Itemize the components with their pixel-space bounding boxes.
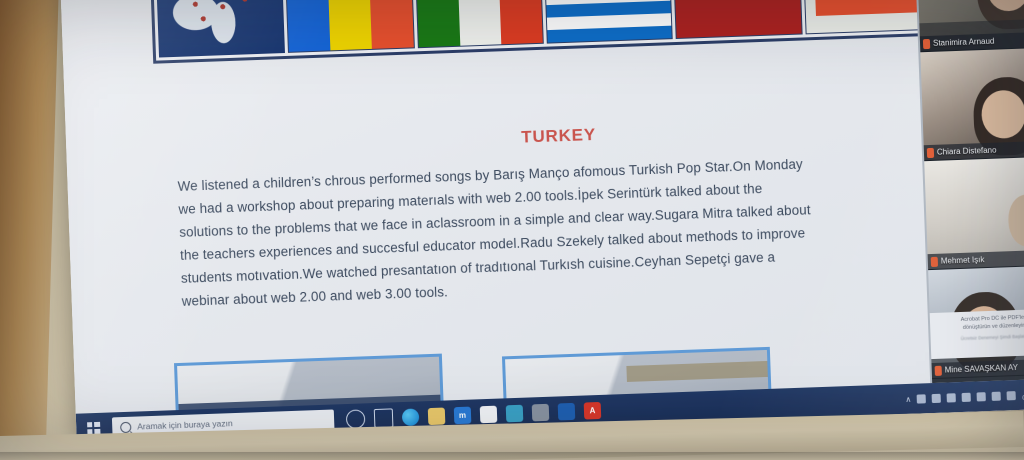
search-placeholder: Aramak için buraya yazın [137,418,233,431]
microphone-icon [923,38,930,48]
ad-subtext: Ücretsiz Denemeyi Şimdi Başlatın [937,332,1024,341]
advertisement-banner[interactable]: Acrobat Pro DC ile PDF'leri dönüştürün v… [930,309,1024,360]
bulgaria-flag [672,0,802,39]
screen: TURKEY We listened a children’s chrous p… [60,0,1024,444]
tray-icon-network[interactable] [917,394,926,403]
map-pins-icon [156,0,284,56]
tray-icon-cloud[interactable] [932,393,941,402]
app-blue2-icon[interactable] [558,402,576,420]
tray-icon-wifi[interactable] [992,391,1001,400]
participant-avatar [1007,194,1024,247]
participant-tile[interactable]: Stanimira Arnaud [916,0,1024,52]
greece-stripes [544,0,672,43]
participant-name: Mine SAVAŞKAN AY [945,363,1019,375]
photo-bottom-shadow [0,452,1024,460]
tray-icon-volume[interactable] [977,392,986,401]
microsoft-store-icon[interactable] [480,405,498,423]
italy-flag [413,0,543,48]
european-union-map-flag [155,0,285,58]
photographed-monitor-scene: TURKEY We listened a children’s chrous p… [0,0,1024,460]
task-view-icon[interactable] [374,408,394,428]
tray-icon-battery[interactable] [1007,391,1016,400]
slide-body-text: We listened a children’s chrous performe… [177,152,822,313]
app-teal-icon[interactable] [506,404,524,422]
monitor: TURKEY We listened a children’s chrous p… [60,0,1024,444]
acrobat-reader-icon[interactable]: A [584,401,602,419]
app-grey-icon[interactable] [532,403,550,421]
romania-flag [284,0,414,53]
participant-tile[interactable]: Chiara Distefano [920,48,1024,162]
edge-browser-icon[interactable] [402,408,420,426]
search-icon [120,421,131,432]
tray-icon-shield[interactable] [947,393,956,402]
tray-icon-app[interactable] [962,392,971,401]
video-participants-panel[interactable]: Stanimira Arnaud Chiara Distefano Mehmet… [914,0,1024,383]
slide-title: TURKEY [66,109,1024,164]
microphone-icon [931,256,938,266]
participant-name: Stanimira Arnaud [933,37,995,48]
cortana-icon[interactable] [346,409,366,429]
greece-flag [543,0,673,44]
participant-name: Mehmet Işık [941,255,985,266]
participant-tile[interactable]: Mehmet Işık [924,157,1024,271]
system-tray[interactable]: ∧ 17:56 08.06.2021 [905,385,1024,407]
file-explorer-icon[interactable] [428,407,446,425]
bulgaria-red-band [676,0,802,38]
turkey-flag [801,0,931,34]
presentation-slide: TURKEY We listened a children’s chrous p… [60,0,1024,414]
microphone-icon [927,147,934,157]
microphone-icon [935,365,942,375]
participant-name: Chiara Distefano [937,146,997,157]
app-blue-icon[interactable]: m [454,406,472,424]
flag-banner [149,0,938,64]
turkey-flag-field [813,0,920,16]
chevron-up-icon[interactable]: ∧ [905,394,911,403]
